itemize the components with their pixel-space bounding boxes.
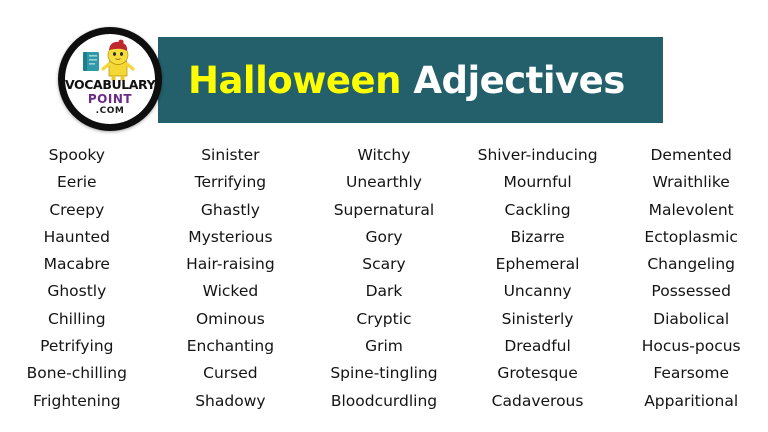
page-title-primary: Halloween bbox=[188, 59, 401, 102]
word-item: Hair-raising bbox=[186, 251, 275, 278]
word-column-4: Shiver-inducing Mournful Cackling Bizarr… bbox=[461, 142, 615, 415]
word-item: Possessed bbox=[651, 278, 731, 305]
word-item: Wicked bbox=[203, 278, 259, 305]
word-item: Cursed bbox=[203, 360, 257, 387]
logo-line-vocabulary: VOCABULARY bbox=[65, 78, 155, 92]
logo-line-dotcom: .COM bbox=[65, 106, 155, 117]
word-item: Malevolent bbox=[649, 197, 734, 224]
logo-inner: VOCABULARY POINT .COM bbox=[65, 34, 155, 124]
word-item: Chilling bbox=[48, 306, 106, 333]
logo-line-point: POINT bbox=[65, 92, 155, 106]
word-item: Sinister bbox=[201, 142, 259, 169]
word-item: Bloodcurdling bbox=[331, 388, 437, 415]
word-item: Grim bbox=[365, 333, 403, 360]
word-item: Spine-tingling bbox=[330, 360, 437, 387]
word-item: Haunted bbox=[44, 224, 110, 251]
word-item: Spooky bbox=[49, 142, 105, 169]
word-item: Bizarre bbox=[510, 224, 564, 251]
word-item: Petrifying bbox=[40, 333, 113, 360]
header-banner: Halloween Adjectives bbox=[158, 37, 663, 123]
word-item: Ominous bbox=[196, 306, 265, 333]
word-item: Cryptic bbox=[356, 306, 411, 333]
logo-badge: VOCABULARY POINT .COM bbox=[58, 27, 162, 131]
word-item: Ghostly bbox=[47, 278, 106, 305]
word-item: Diabolical bbox=[653, 306, 729, 333]
word-item: Dark bbox=[366, 278, 403, 305]
page-root: Halloween Adjectives bbox=[0, 0, 768, 432]
word-item: Mournful bbox=[503, 169, 571, 196]
word-item: Ephemeral bbox=[496, 251, 580, 278]
word-item: Changeling bbox=[647, 251, 735, 278]
word-item: Mysterious bbox=[188, 224, 272, 251]
word-item: Grotesque bbox=[497, 360, 577, 387]
word-item: Enchanting bbox=[187, 333, 274, 360]
word-item: Ectoplasmic bbox=[644, 224, 738, 251]
word-item: Hocus-pocus bbox=[642, 333, 741, 360]
word-item: Demented bbox=[650, 142, 731, 169]
word-item: Apparitional bbox=[644, 388, 738, 415]
word-item: Ghastly bbox=[201, 197, 260, 224]
word-item: Creepy bbox=[49, 197, 104, 224]
word-item: Cackling bbox=[505, 197, 571, 224]
word-item: Shiver-inducing bbox=[478, 142, 598, 169]
word-item: Terrifying bbox=[195, 169, 266, 196]
word-item: Unearthly bbox=[346, 169, 422, 196]
word-item: Wraithlike bbox=[653, 169, 730, 196]
word-item: Witchy bbox=[358, 142, 411, 169]
word-item: Dreadful bbox=[504, 333, 570, 360]
word-item: Shadowy bbox=[195, 388, 265, 415]
word-item: Frightening bbox=[33, 388, 121, 415]
word-grid: Spooky Eerie Creepy Haunted Macabre Ghos… bbox=[0, 142, 768, 415]
word-item: Supernatural bbox=[334, 197, 435, 224]
word-column-3: Witchy Unearthly Supernatural Gory Scary… bbox=[307, 142, 461, 415]
word-item: Sinisterly bbox=[502, 306, 574, 333]
word-item: Cadaverous bbox=[492, 388, 584, 415]
word-item: Scary bbox=[362, 251, 405, 278]
word-item: Fearsome bbox=[653, 360, 729, 387]
logo-text: VOCABULARY POINT .COM bbox=[65, 78, 155, 117]
word-column-2: Sinister Terrifying Ghastly Mysterious H… bbox=[154, 142, 308, 415]
page-title: Halloween Adjectives bbox=[188, 62, 625, 99]
word-item: Bone-chilling bbox=[27, 360, 127, 387]
word-column-1: Spooky Eerie Creepy Haunted Macabre Ghos… bbox=[0, 142, 154, 415]
word-item: Macabre bbox=[44, 251, 110, 278]
word-item: Gory bbox=[365, 224, 402, 251]
word-item: Eerie bbox=[57, 169, 97, 196]
word-column-5: Demented Wraithlike Malevolent Ectoplasm… bbox=[614, 142, 768, 415]
word-item: Uncanny bbox=[504, 278, 572, 305]
page-title-secondary: Adjectives bbox=[413, 59, 624, 102]
